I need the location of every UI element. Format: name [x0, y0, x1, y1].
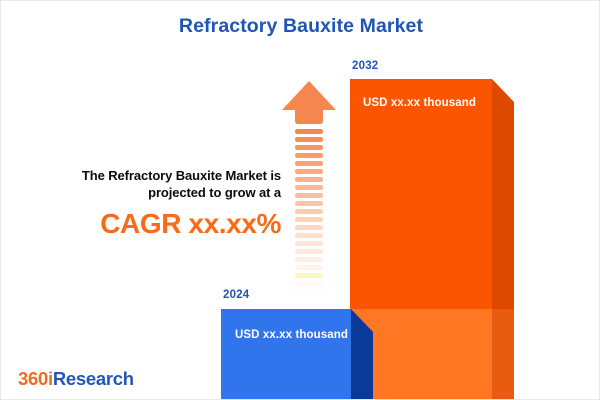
- arrow-head-shape: [282, 81, 336, 124]
- logo-mark-360i: 360i: [18, 368, 53, 389]
- annotation-line-2: projected to grow at a: [19, 184, 281, 201]
- bar-2024-front-face: [221, 309, 351, 400]
- logo-word-research: Research: [53, 368, 134, 389]
- infographic-canvas: Refractory Bauxite Market The Refractory…: [0, 0, 600, 400]
- brand-logo[interactable]: 360iResearch: [18, 368, 134, 390]
- bar-2032-value-label: USD xx.xx thousand: [363, 97, 476, 109]
- arrow-svg: [279, 81, 339, 296]
- bar-2032-year-label: 2032: [352, 60, 378, 72]
- arrow-stripes: [295, 129, 323, 295]
- annotation-line-1: The Refractory Bauxite Market is: [19, 167, 281, 184]
- bar-2032-overlap-side: [492, 309, 514, 400]
- upward-growth-arrow-icon: [279, 81, 339, 296]
- bar-2024-value-label: USD xx.xx thousand: [235, 329, 348, 341]
- bar-2032-svg: [350, 79, 525, 400]
- bar-2032: [350, 79, 525, 400]
- bar-2024-side-face: [351, 309, 373, 400]
- bar-2024: [221, 309, 373, 400]
- bar-2024-svg: [221, 309, 373, 400]
- bar-2024-year-label: 2024: [223, 289, 249, 301]
- cagr-annotation: The Refractory Bauxite Market is project…: [19, 167, 281, 240]
- page-title: Refractory Bauxite Market: [1, 15, 600, 38]
- cagr-value: CAGR xx.xx%: [19, 208, 281, 240]
